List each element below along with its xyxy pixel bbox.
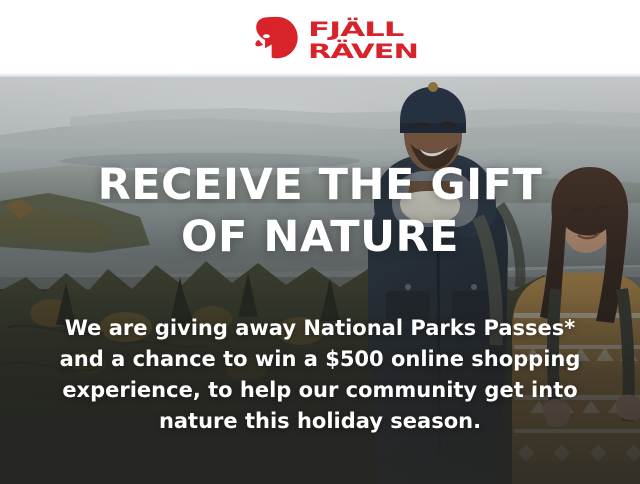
- body-line-3: experience, to help our community get in…: [30, 375, 610, 406]
- headline-line-2: OF NATURE: [0, 211, 640, 263]
- fjallraven-fox-logo-icon: [254, 16, 300, 62]
- page-title: RECEIVE THE GIFT OF NATURE: [0, 159, 640, 263]
- hero-body-text: We are giving away National Parks Passes…: [30, 313, 610, 437]
- body-line-4: nature this holiday season.: [30, 406, 610, 437]
- body-line-2: and a chance to win a $500 online shoppi…: [30, 344, 610, 375]
- header-band: FJÄLL RÄVEN: [0, 0, 640, 77]
- hero-section: RECEIVE THE GIFT OF NATURE We are giving…: [0, 77, 640, 484]
- promotional-email-banner: FJÄLL RÄVEN: [0, 0, 640, 484]
- brand-wordmark-icon: FJÄLL RÄVEN: [308, 17, 444, 61]
- svg-text:FJÄLL: FJÄLL: [308, 17, 405, 41]
- headline-line-1: RECEIVE THE GIFT: [0, 159, 640, 211]
- brand-logo-link[interactable]: FJÄLL RÄVEN: [254, 14, 444, 64]
- body-line-1: We are giving away National Parks Passes…: [30, 313, 610, 344]
- svg-text:RÄVEN: RÄVEN: [308, 39, 418, 61]
- hero-copy: RECEIVE THE GIFT OF NATURE We are giving…: [0, 77, 640, 484]
